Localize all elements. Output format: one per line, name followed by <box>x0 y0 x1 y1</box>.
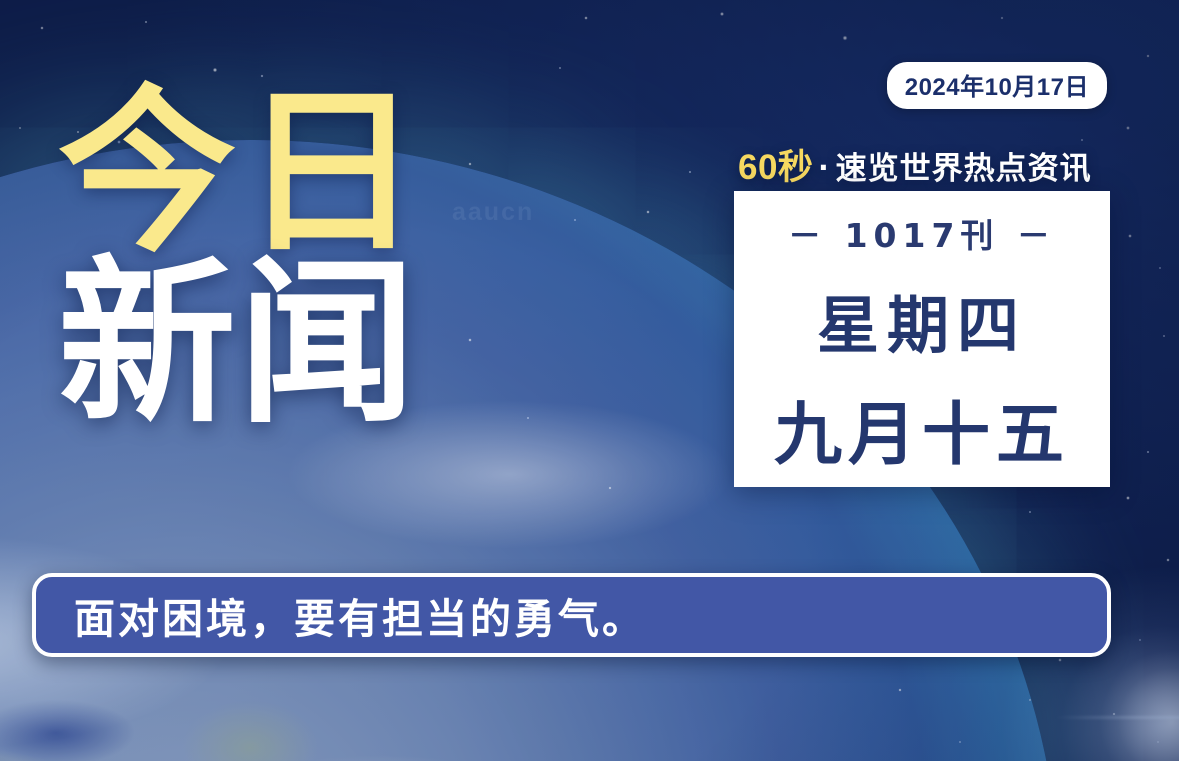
issue-card: － 1017刊 － 星期四 九月十五 <box>734 191 1110 487</box>
brand-title-line-1: 今日 <box>58 88 488 259</box>
tagline-highlight: 60秒 <box>738 148 813 187</box>
tagline-rest: 速览世界热点资讯 <box>836 151 1092 186</box>
date-badge: 2024年10月17日 <box>887 62 1107 109</box>
issue-number: － 1017刊 － <box>788 209 1056 257</box>
news-poster: aaucn 今日 新闻 2024年10月17日 60秒·速览世界热点资讯 － 1… <box>0 0 1179 761</box>
quote-banner: 面对困境，要有担当的勇气。 <box>32 573 1111 657</box>
brand-title-line-2: 新闻 <box>58 253 488 435</box>
lens-flare-streak <box>1055 716 1179 719</box>
weekday-label: 星期四 <box>817 275 1027 365</box>
tagline: 60秒·速览世界热点资讯 <box>738 139 1092 190</box>
lunar-date-label: 九月十五 <box>774 379 1070 478</box>
tagline-separator: · <box>818 148 830 187</box>
quote-text: 面对困境，要有担当的勇气。 <box>36 585 646 645</box>
brand-title: 今日 新闻 <box>58 88 488 434</box>
